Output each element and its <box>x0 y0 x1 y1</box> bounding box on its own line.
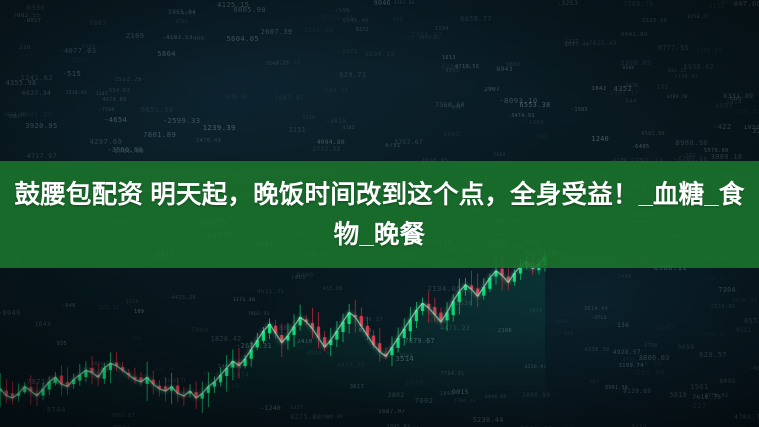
screenshot-canvas: 22936553-8093.10-2679.3126339046692.5533… <box>0 0 759 427</box>
title-banner: 鼓腰包配资 明天起，晚饭时间改到这个点，全身受益！_血糖_食物_晚餐 <box>0 161 759 268</box>
page-title: 鼓腰包配资 明天起，晚饭时间改到这个点，全身受益！_血糖_食物_晚餐 <box>2 175 757 255</box>
chart-plot-area <box>0 249 547 427</box>
